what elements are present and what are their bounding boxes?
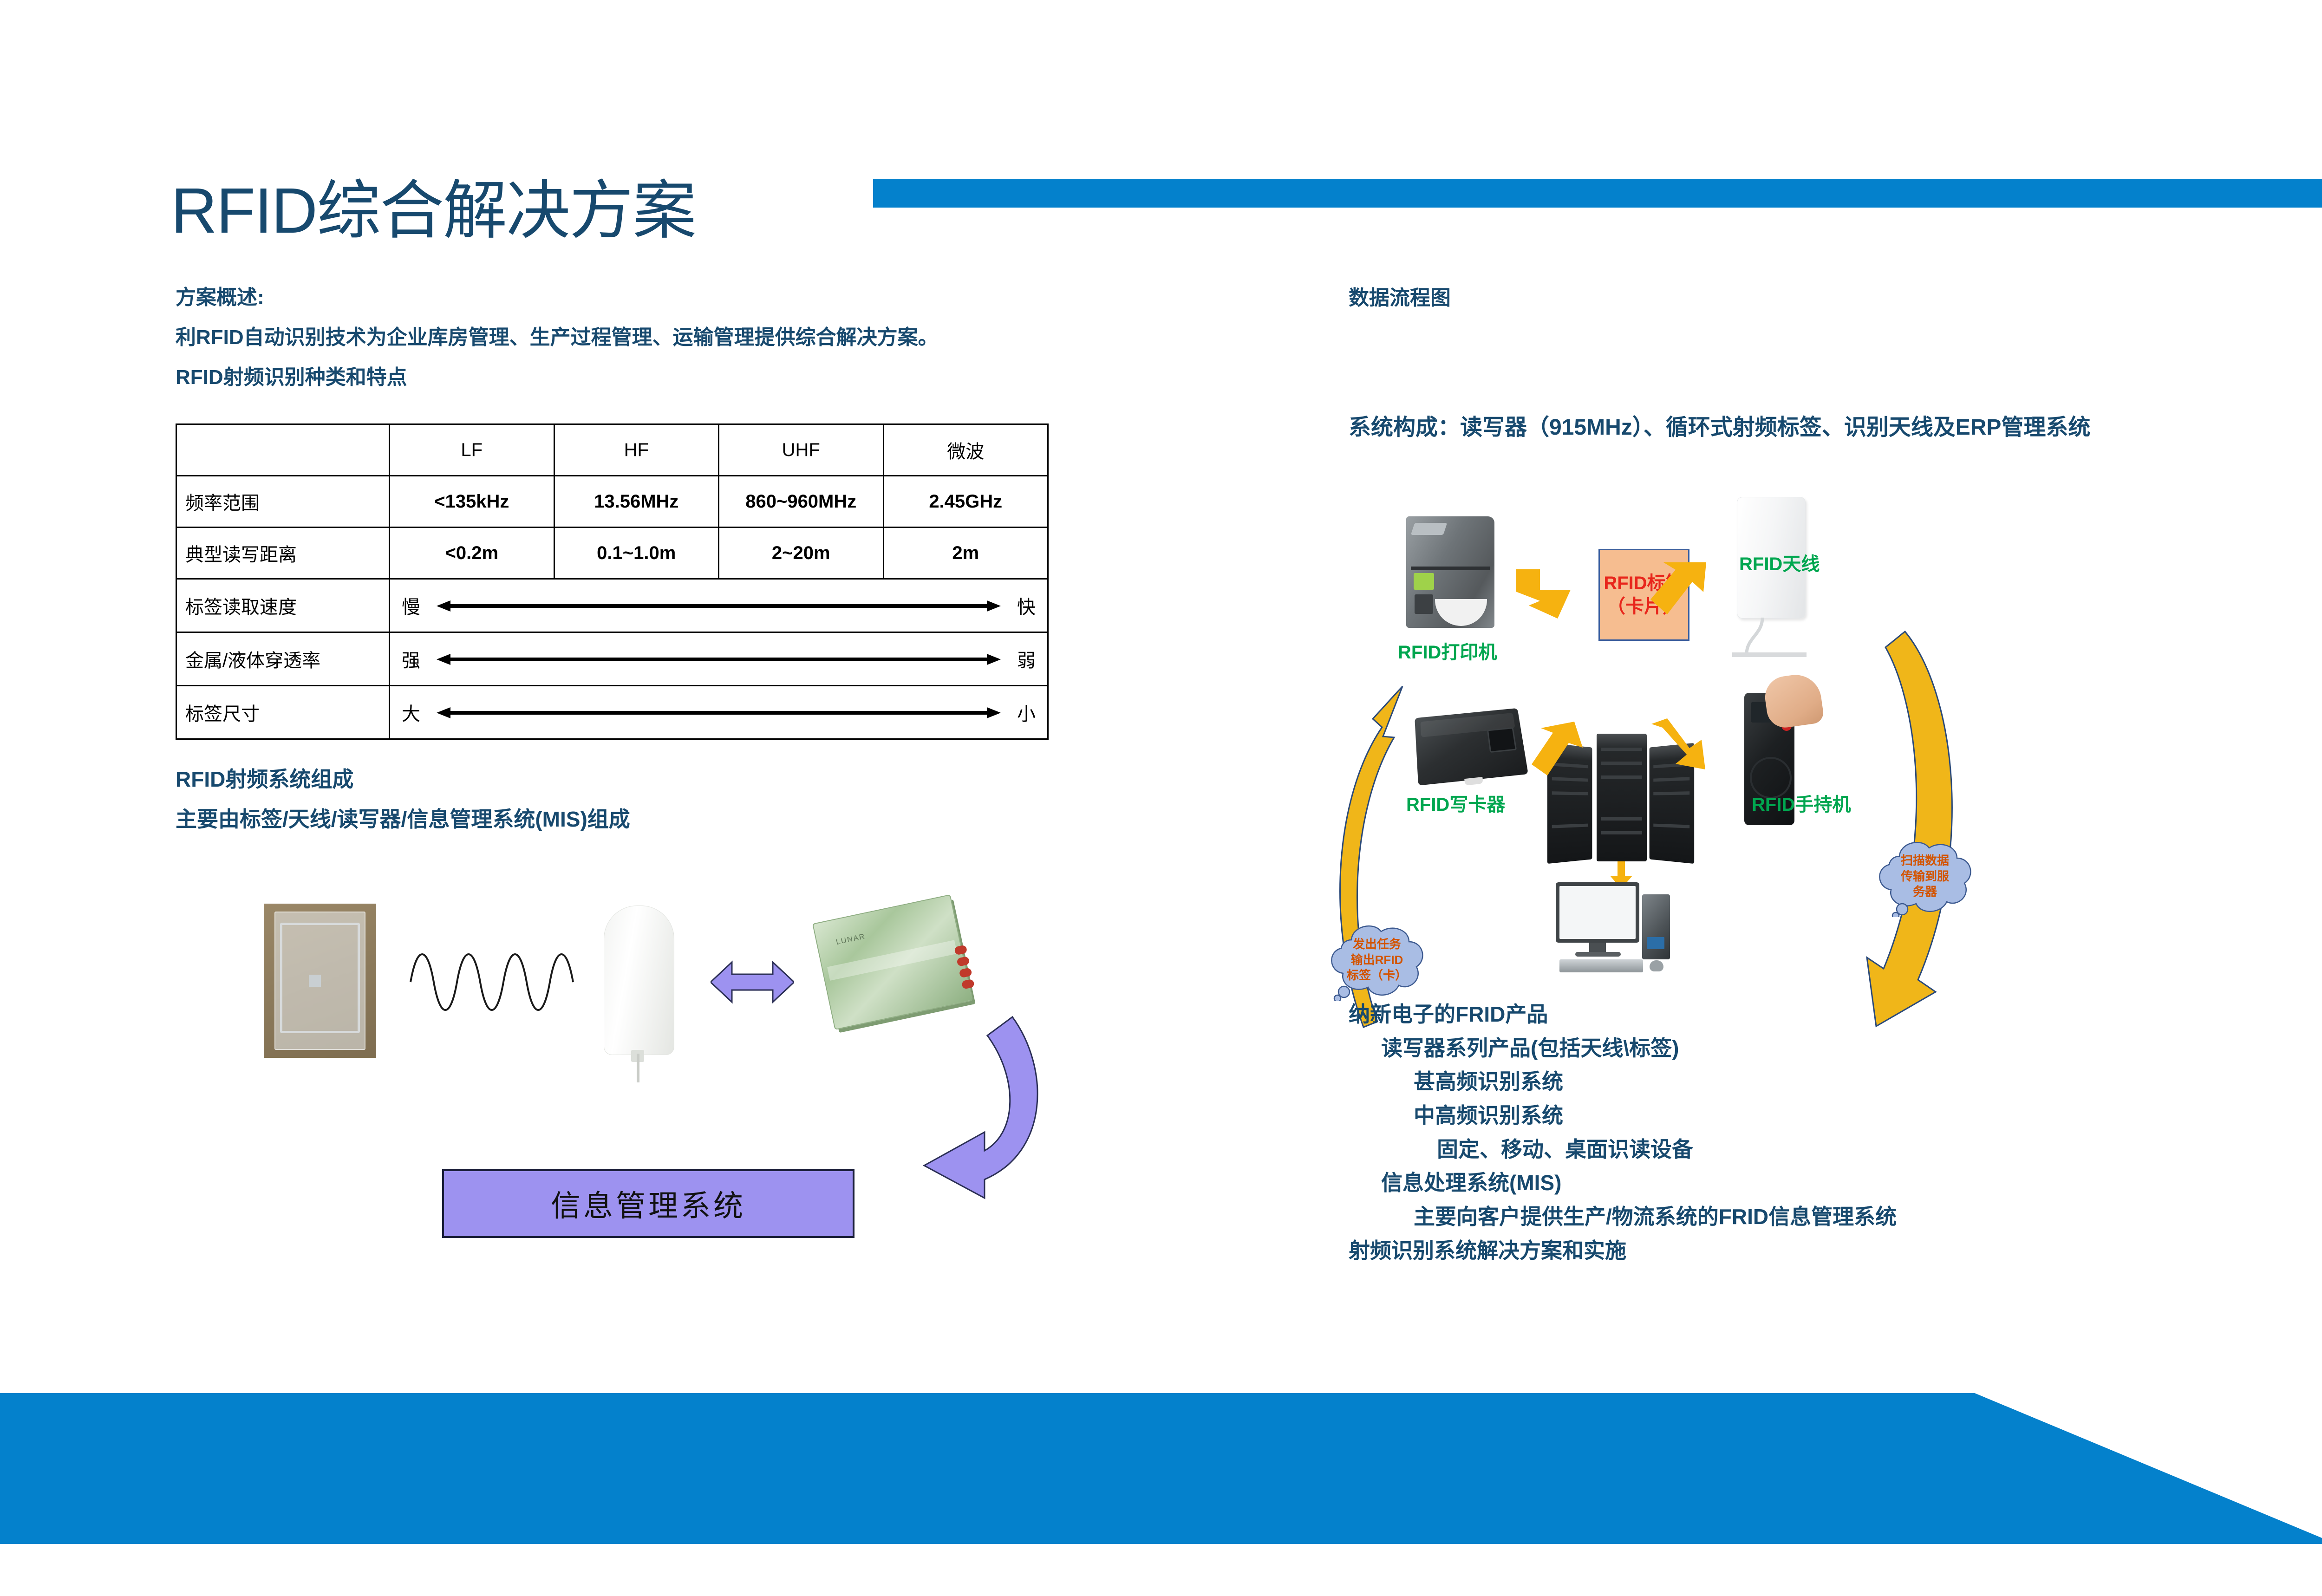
rfid-comparison-table: LFHFUHF微波频率范围<135kHz13.56MHz860~960MHz2.… <box>176 423 1049 740</box>
reader-brand: LUNAR <box>835 932 867 947</box>
product-list-item: 射频识别系统解决方案和实施 <box>1349 1234 2231 1268</box>
kinds-heading: RFID射频识别种类和特点 <box>176 360 407 390</box>
arrow-tag-to-handheld-icon <box>1649 717 1709 773</box>
table-cell: 2m <box>883 528 1048 579</box>
table-row-label: 标签读取速度 <box>176 579 390 632</box>
arrow-printer-to-tag-icon <box>1513 566 1573 621</box>
slide-canvas: RFID综合解决方案 方案概述: 利RFID自动识别技术为企业库房管理、生产过程… <box>0 0 2322 1596</box>
bidirectional-arrow-icon <box>711 957 794 1008</box>
table-col-header: 微波 <box>883 424 1048 476</box>
table-col-header: LF <box>390 424 554 476</box>
table-corner-cell <box>176 424 390 476</box>
arrow-tag-to-antenna-icon <box>1649 560 1709 618</box>
table-row: 典型读写距离<0.2m0.1~1.0m2~20m2m <box>176 528 1048 579</box>
overview-text: 利RFID自动识别技术为企业库房管理、生产过程管理、运输管理提供综合解决方案。 <box>176 320 939 350</box>
scale-right-label: 小 <box>1005 699 1047 726</box>
cloud-right-line1: 扫描数据 <box>1901 853 1949 869</box>
table-row-label: 典型读写距离 <box>176 528 390 579</box>
mis-box-label: 信息管理系统 <box>551 1182 746 1225</box>
scale-right-label: 快 <box>1005 592 1047 619</box>
antenna-label: RFID天线 <box>1739 549 1820 576</box>
table-scale-cell: 大小 <box>390 686 1048 739</box>
table-row: 标签尺寸大小 <box>176 686 1048 739</box>
cloud-left-text: 发出任务 输出RFID 标签（卡） <box>1324 919 1430 1001</box>
product-list: 纳新电子的FRID产品读写器系列产品(包括天线\标签)甚高频识别系统中高频识别系… <box>1349 997 2231 1267</box>
desktop-computer-icon <box>1551 882 1690 975</box>
rfid-printer-icon <box>1406 516 1494 628</box>
cloud-callout-left: 发出任务 输出RFID 标签（卡） <box>1324 919 1430 1001</box>
cloud-right-line2: 传输到服 <box>1901 869 1949 885</box>
table-row: 频率范围<135kHz13.56MHz860~960MHz2.45GHz <box>176 476 1048 528</box>
product-list-item: 纳新电子的FRID产品 <box>1349 997 2231 1031</box>
table-scale-cell: 慢快 <box>390 579 1048 632</box>
system-composition-title: 系统构成：读写器（915MHz）、循环式射频标签、识别天线及ERP管理系统 <box>1349 409 2090 441</box>
table-cell: <135kHz <box>390 476 554 528</box>
tag-chip <box>309 975 321 987</box>
cloud-callout-right: 扫描数据 传输到服 务器 <box>1872 836 1978 917</box>
product-list-item: 主要向客户提供生产/物流系统的FRID信息管理系统 <box>1349 1200 2231 1234</box>
scale-right-label: 弱 <box>1005 645 1047 672</box>
scale-left-label: 大 <box>390 699 432 726</box>
table-scale-cell: 强弱 <box>390 632 1048 686</box>
top-accent-bar <box>873 179 2322 208</box>
compose-heading: RFID射频系统组成 <box>176 762 353 793</box>
table-cell: 2.45GHz <box>883 476 1048 528</box>
arrow-writer-to-tag-icon <box>1531 720 1586 778</box>
compose-text: 主要由标签/天线/读写器/信息管理系统(MIS)组成 <box>176 802 630 833</box>
antenna-mount <box>1732 652 1807 657</box>
curved-down-arrow-icon <box>896 1012 1050 1226</box>
table-col-header: HF <box>554 424 719 476</box>
bottom-accent-shape <box>0 1393 2322 1551</box>
table-row: 金属/液体穿透率强弱 <box>176 632 1048 686</box>
rfid-reader-photo: LUNAR <box>812 894 973 1030</box>
table-row: 标签读取速度慢快 <box>176 579 1048 632</box>
scale-left-label: 强 <box>390 645 432 672</box>
cloud-left-line3: 标签（卡） <box>1347 968 1407 984</box>
scale-arrow-icon <box>437 707 1001 718</box>
cloud-left-line2: 输出RFID <box>1351 952 1403 968</box>
table-row-label: 频率范围 <box>176 476 390 528</box>
scale-arrow-icon <box>437 653 1001 664</box>
product-list-item: 甚高频识别系统 <box>1349 1065 2231 1099</box>
page-title: RFID综合解决方案 <box>171 179 696 243</box>
overview-label: 方案概述: <box>176 280 264 310</box>
product-list-item: 中高频识别系统 <box>1349 1099 2231 1133</box>
scale-arrow-icon <box>437 600 1001 611</box>
table-row-label: 金属/液体穿透率 <box>176 632 390 686</box>
scale-left-label: 慢 <box>390 592 432 619</box>
antenna-cable-icon <box>1744 618 1781 655</box>
cloud-right-line3: 务器 <box>1913 884 1937 900</box>
cloud-right-text: 扫描数据 传输到服 务器 <box>1872 836 1978 917</box>
table-cell: 13.56MHz <box>554 476 719 528</box>
cloud-left-line1: 发出任务 <box>1353 937 1401 952</box>
rfid-dataflow-diagram: RFID打印机 RFID写卡器 RFID天线 RFID手持机 <box>1324 464 2206 975</box>
product-list-item: 读写器系列产品(包括天线\标签) <box>1349 1031 2231 1065</box>
rfid-tag-photo <box>264 904 376 1058</box>
reader-strip <box>827 940 957 981</box>
data-flow-title: 数据流程图 <box>1349 281 1451 311</box>
table-cell: <0.2m <box>390 528 554 579</box>
table-cell: 2~20m <box>719 528 884 579</box>
table-cell: 860~960MHz <box>719 476 884 528</box>
table-col-header: UHF <box>719 424 884 476</box>
table-header-row: LFHFUHF微波 <box>176 424 1048 476</box>
antenna-cable <box>637 1054 639 1082</box>
product-list-item: 固定、移动、桌面识读设备 <box>1349 1133 2231 1166</box>
table-cell: 0.1~1.0m <box>554 528 719 579</box>
printer-label: RFID打印机 <box>1398 637 1497 664</box>
reader-antenna-ports <box>953 942 976 993</box>
rfid-antenna-photo <box>604 905 674 1055</box>
handheld-label: RFID手持机 <box>1752 789 1851 816</box>
table-row-label: 标签尺寸 <box>176 686 390 739</box>
mis-box: 信息管理系统 <box>442 1169 854 1238</box>
rf-wave-icon <box>409 947 576 1017</box>
product-list-item: 信息处理系统(MIS) <box>1349 1166 2231 1200</box>
